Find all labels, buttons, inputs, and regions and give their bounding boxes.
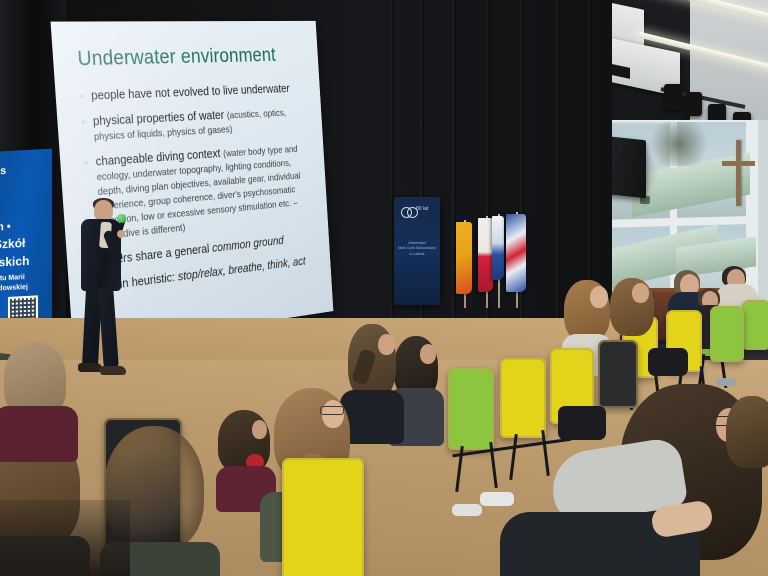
slide-title: Underwater environment <box>77 44 304 71</box>
banner-line: odowskiej <box>0 284 28 293</box>
banner-line: cs <box>0 165 6 178</box>
audience-person <box>726 396 768 506</box>
banner-line: rskich <box>0 254 29 270</box>
head <box>632 283 649 303</box>
banner-line: w Lublinie <box>398 252 436 257</box>
banner-stage-text: Uniwersytet Marii Curie-Skłodowskiej w L… <box>398 241 436 257</box>
head <box>378 334 395 355</box>
chair <box>282 458 364 576</box>
left-rollup-banner: cs m • Szkół rskich łetu Marii odowskiej <box>0 149 52 342</box>
slide-bullet: ◦ people have not evolved to live underw… <box>80 82 306 104</box>
presenter-leg-right <box>98 288 119 369</box>
foreground-left-shadow <box>0 500 130 576</box>
banner-line: łetu Marii <box>0 274 25 283</box>
flag-poland <box>478 218 493 292</box>
flag-eu-blue <box>492 216 504 280</box>
wall-cross-vertical <box>736 140 741 206</box>
banner-line: m • <box>0 221 11 234</box>
head <box>420 344 436 364</box>
stage-spotlight-1 <box>664 84 682 110</box>
bullet-emphasis: common ground <box>212 234 284 255</box>
bullet-text: people have not evolved to live underwat… <box>91 82 290 102</box>
flag-group <box>450 198 526 308</box>
banner-line: Szkół <box>0 236 25 252</box>
stage-rollup-banner: 80 lat Uniwersytet Marii Curie-Skłodowsk… <box>394 197 440 305</box>
university-logo-icon: 80 lat <box>401 206 431 218</box>
chair <box>710 306 744 362</box>
wall-cross-horizontal <box>722 161 755 166</box>
head <box>590 286 608 308</box>
microphone-windscreen-icon <box>117 214 126 223</box>
hair <box>726 396 768 468</box>
audience-person <box>0 342 86 462</box>
flag-uk <box>506 214 526 292</box>
banner-line: Marii Curie-Skłodowskiej <box>398 246 436 251</box>
shoe <box>480 492 514 506</box>
head <box>252 420 267 439</box>
presenter-shoe-right <box>100 366 126 375</box>
logo-text: 80 lat <box>416 207 428 213</box>
glasses-icon <box>320 406 344 415</box>
torso <box>0 406 78 462</box>
photo-scene: Underwater environment ◦ people have not… <box>0 0 768 576</box>
presenter-hand <box>117 230 125 238</box>
bullet-emphasis: stop/relax, breathe, think, act <box>177 254 305 283</box>
flag-lublin <box>456 222 472 294</box>
slide-bullet: ◦ physical properties of water (acustics… <box>81 105 307 145</box>
shoe <box>452 504 482 516</box>
stage-spotlight-2 <box>686 92 702 116</box>
